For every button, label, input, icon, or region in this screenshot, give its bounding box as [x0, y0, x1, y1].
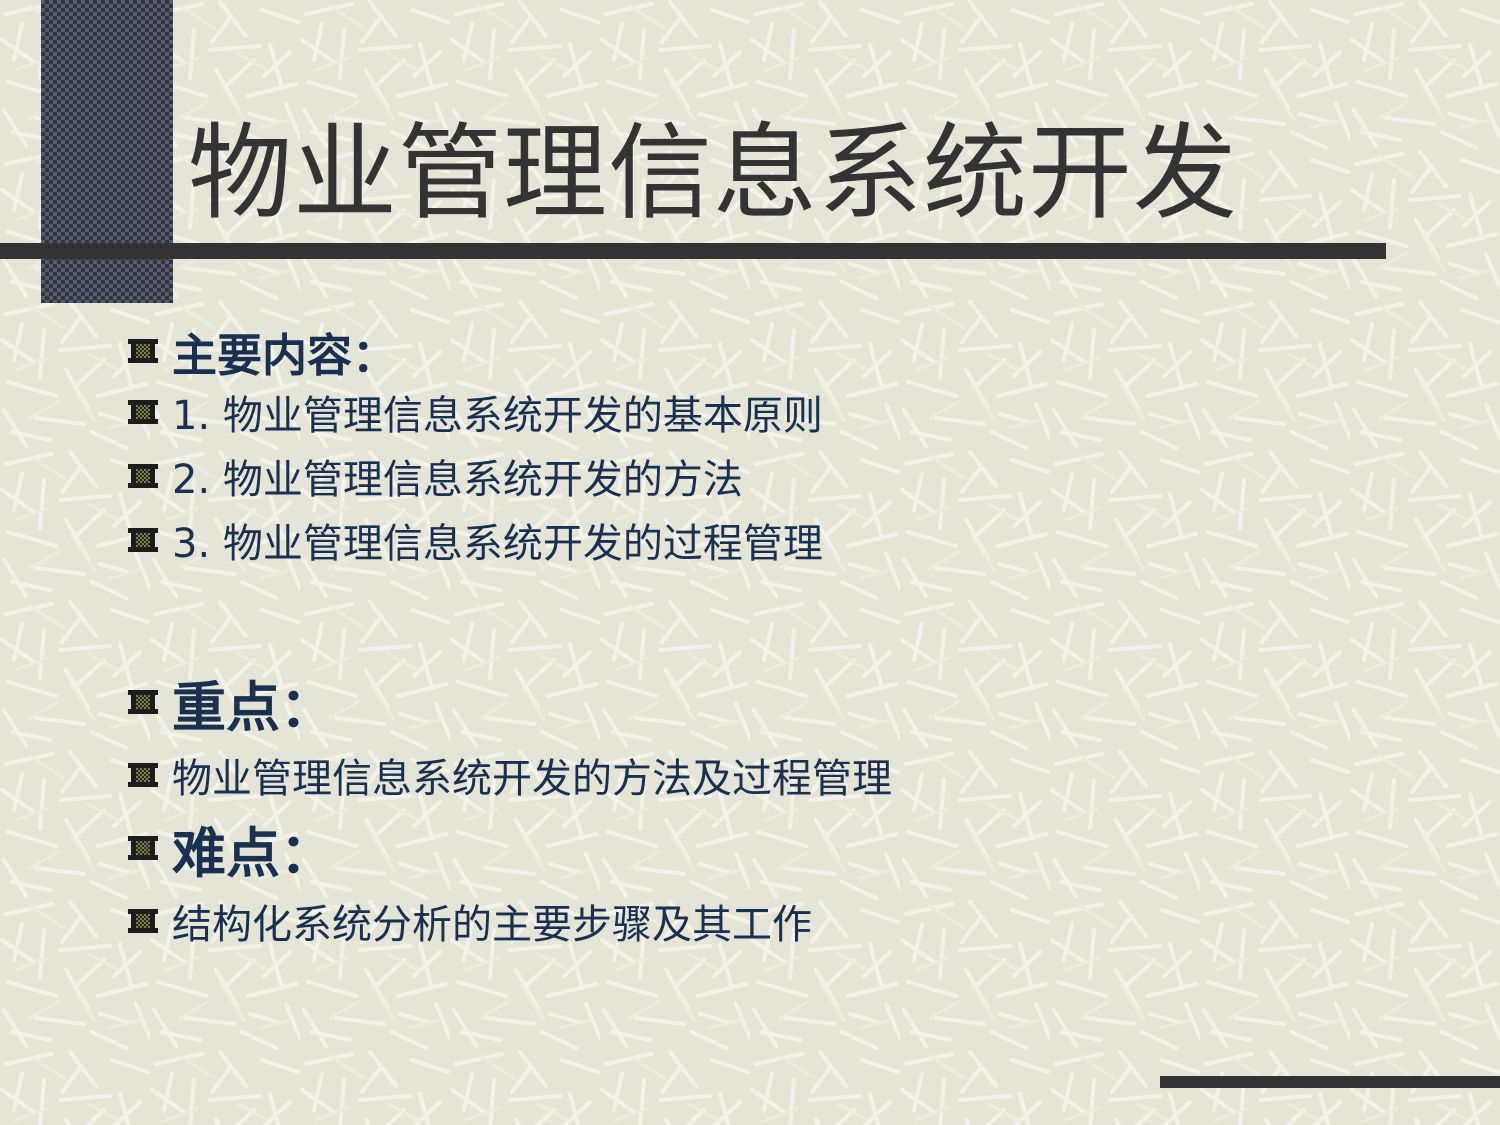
section-heading-key-points: 重点： — [128, 664, 1428, 740]
section-heading-label: 难点： — [172, 809, 334, 888]
content-body: 主要内容： 1. 物业管理信息系统开发的基本原则 2. 物业管理信息系统开发的方… — [128, 322, 1428, 956]
section-heading-main-content: 主要内容： — [128, 322, 1428, 380]
film-frame-bullet-icon — [128, 461, 158, 491]
list-item-label: 结构化系统分析的主要步骤及其工作 — [172, 892, 812, 950]
film-frame-bullet-icon — [128, 760, 158, 790]
section-heading-difficult-points: 难点： — [128, 810, 1428, 886]
list-item: 结构化系统分析的主要步骤及其工作 — [128, 886, 1428, 956]
page-title: 物业管理信息系统开发 — [188, 108, 1388, 238]
film-frame-bullet-icon — [128, 525, 158, 555]
section-spacer — [128, 572, 1428, 664]
film-frame-bullet-icon — [128, 397, 158, 427]
bottom-right-accent-bar — [1160, 1076, 1500, 1088]
title-underline-rule — [0, 243, 1386, 259]
presentation-slide: 物业管理信息系统开发 主要内容： 1. 物业管理信息系统开发的基本原则 2. 物… — [0, 0, 1500, 1125]
list-item-label: 物业管理信息系统开发的方法及过程管理 — [172, 746, 892, 804]
list-item: 物业管理信息系统开发的方法及过程管理 — [128, 740, 1428, 810]
film-frame-bullet-icon — [128, 336, 158, 366]
film-frame-bullet-icon — [128, 687, 158, 717]
list-item-label: 3. 物业管理信息系统开发的过程管理 — [172, 511, 823, 569]
film-frame-bullet-icon — [128, 906, 158, 936]
film-frame-bullet-icon — [128, 833, 158, 863]
list-item: 3. 物业管理信息系统开发的过程管理 — [128, 508, 1428, 572]
list-item-label: 1. 物业管理信息系统开发的基本原则 — [172, 383, 823, 441]
list-item-label: 2. 物业管理信息系统开发的方法 — [172, 447, 743, 505]
list-item: 1. 物业管理信息系统开发的基本原则 — [128, 380, 1428, 444]
section-heading-label: 重点： — [172, 663, 334, 742]
list-item: 2. 物业管理信息系统开发的方法 — [128, 444, 1428, 508]
section-heading-label: 主要内容： — [172, 319, 397, 384]
